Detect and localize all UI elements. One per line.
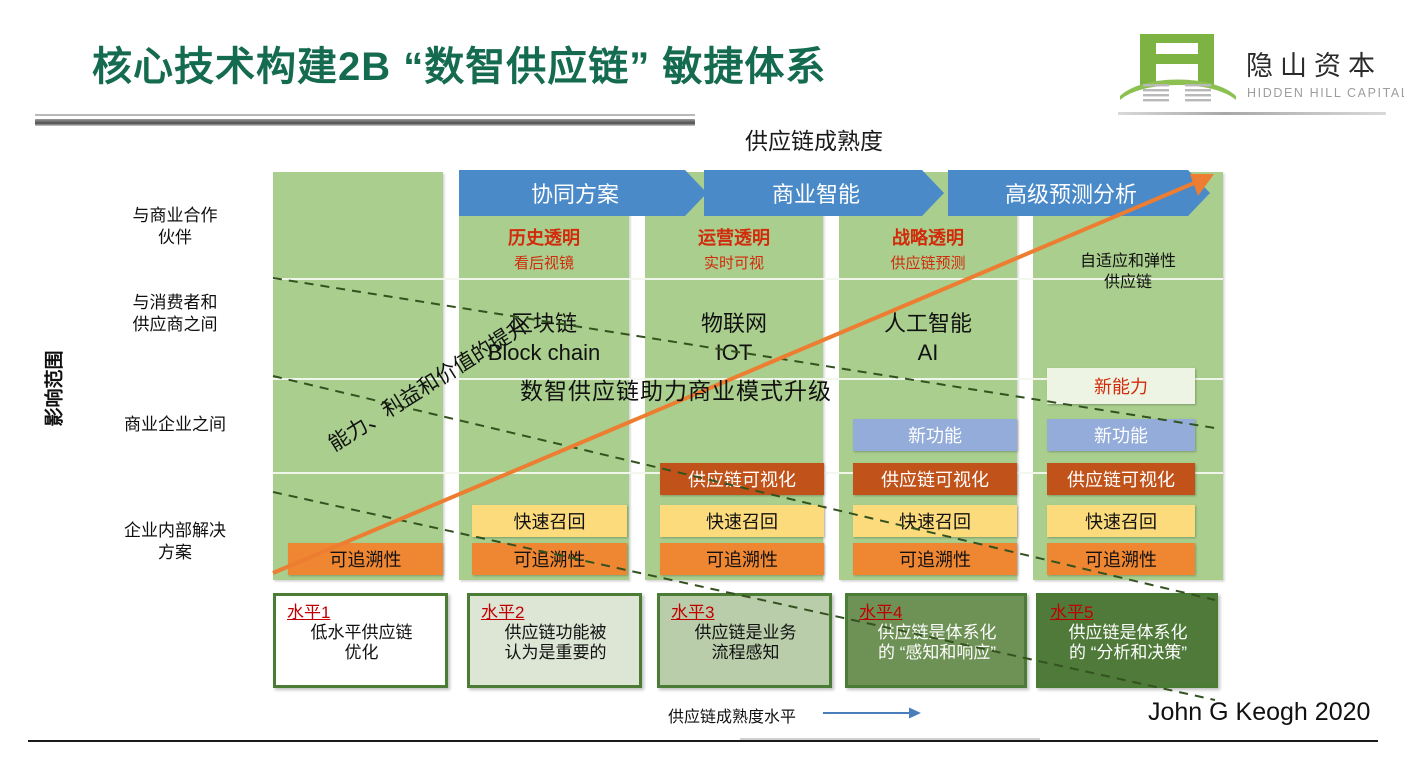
cap-new-function-c5[interactable]: 新功能 [1047,419,1195,451]
col3-technology: 物联网 IOT [645,310,823,367]
cap-visibility-c3[interactable]: 供应链可视化 [660,463,824,495]
cap-rapid-recall-c5[interactable]: 快速召回 [1047,505,1195,537]
chevron-advanced-predictive-analytics[interactable]: 高级预测分析 [948,170,1210,216]
col5-adaptive-resilient-line2: 供应链 [1033,273,1223,293]
title-divider [35,119,695,126]
col4-tech-cn: 人工智能 [839,310,1017,339]
hidden-hill-bridge-h-icon [1118,26,1238,108]
chevron-label: 高级预测分析 [1005,177,1137,209]
col3-tech-en: IOT [645,339,823,368]
col3-transparency-sub: 实时可视 [645,252,823,273]
level-desc-line1: 供应链是体系化 [859,623,1015,643]
chevron-label: 协同方案 [531,177,619,209]
cap-new-function-c4[interactable]: 新功能 [853,419,1017,451]
cap-visibility-c5[interactable]: 供应链可视化 [1047,463,1195,495]
chart-title: 供应链成熟度 [745,122,883,156]
level-title: 水平1 [287,603,436,623]
credit-text: John G Keogh 2020 [1148,698,1370,727]
chevron-collaborative-plan[interactable]: 协同方案 [459,170,707,216]
level-title: 水平3 [671,603,820,623]
page-title: 核心技术构建2B “数智供应链” 敏捷体系 [92,34,826,92]
maturity-direction-arrow-icon [823,705,923,721]
col3-tech-cn: 物联网 [645,310,823,339]
level-box-2[interactable]: 水平2 供应链功能被 认为是重要的 [467,593,642,688]
level-desc-line2: 的 “感知和响应” [859,643,1015,663]
title-divider-thin [35,114,695,116]
level-box-1[interactable]: 水平1 低水平供应链 优化 [273,593,448,688]
level-box-3[interactable]: 水平3 供应链是业务 流程感知 [657,593,832,688]
row-label-partners: 与商业合作 伙伴 [86,205,264,249]
level-desc-line2: 的 “分析和决策” [1050,643,1206,663]
col4-tech-en: AI [839,339,1017,368]
col4-transparency-head: 战略透明 [839,224,1017,250]
cap-visibility-c4[interactable]: 供应链可视化 [853,463,1017,495]
cap-traceability-c4[interactable]: 可追溯性 [853,543,1017,575]
company-logo: 隐山资本 HIDDEN HILL CAPITAL [1118,26,1380,112]
level-desc-line1: 供应链是业务 [671,623,820,643]
col2-transparency-head: 历史透明 [459,224,629,250]
cap-rapid-recall-c2[interactable]: 快速召回 [472,505,627,537]
row-label-between-enterprises: 商业企业之间 [86,414,264,436]
level-desc-line1: 低水平供应链 [287,623,436,643]
cap-traceability-c3[interactable]: 可追溯性 [660,543,824,575]
level-desc-line1: 供应链功能被 [481,623,630,643]
slide-header: 核心技术构建2B “数智供应链” 敏捷体系 隐山资本 HIDDEN HILL C… [0,0,1404,122]
col4-transparency-sub: 供应链预测 [839,252,1017,273]
level-desc-line2: 流程感知 [671,643,820,663]
center-caption: 数智供应链助力商业模式升级 [520,372,832,406]
cap-traceability-c2[interactable]: 可追溯性 [472,543,627,575]
level-title: 水平5 [1050,603,1206,623]
logo-name-cn: 隐山资本 [1246,44,1382,83]
level-box-5[interactable]: 水平5 供应链是体系化 的 “分析和决策” [1036,593,1218,688]
logo-divider [1118,112,1386,115]
cap-rapid-recall-c4[interactable]: 快速召回 [853,505,1017,537]
cap-traceability-c1[interactable]: 可追溯性 [288,543,443,575]
chevron-label: 商业智能 [772,177,860,209]
cap-traceability-c5[interactable]: 可追溯性 [1047,543,1195,575]
level-title: 水平2 [481,603,630,623]
level-desc-line1: 供应链是体系化 [1050,623,1206,643]
logo-name-en: HIDDEN HILL CAPITAL [1247,86,1404,100]
cap-rapid-recall-c3[interactable]: 快速召回 [660,505,824,537]
level-desc-line2: 认为是重要的 [481,643,630,663]
level-box-4[interactable]: 水平4 供应链是体系化 的 “感知和响应” [845,593,1027,688]
cap-new-capability-c5[interactable]: 新能力 [1047,368,1195,404]
col3-transparency-head: 运营透明 [645,224,823,250]
col4-technology: 人工智能 AI [839,310,1017,367]
col2-transparency-sub: 看后视镜 [459,252,629,273]
y-axis-label: 影响范围 [40,324,67,454]
row-label-internal-solutions: 企业内部解决 方案 [86,520,264,564]
level-desc-line2: 优化 [287,643,436,663]
level-title: 水平4 [859,603,1015,623]
chevron-business-intelligence[interactable]: 商业智能 [704,170,944,216]
footer-divider [28,740,1378,742]
col5-adaptive-resilient-line1: 自适应和弹性 [1033,252,1223,272]
row-label-consumers-suppliers: 与消费者和 供应商之间 [86,292,264,336]
x-axis-caption: 供应链成熟度水平 [668,703,796,727]
